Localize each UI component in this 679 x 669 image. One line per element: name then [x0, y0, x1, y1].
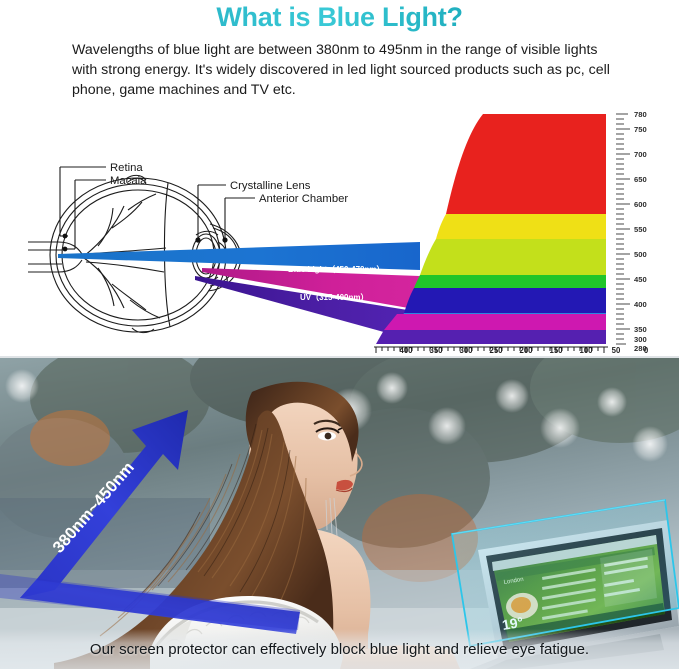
x-label-100: 100: [579, 346, 593, 355]
spectrum-chart: 780 750 700 650 600 550 500 450 400 350 …: [368, 108, 679, 353]
x-label-0: 0: [644, 346, 649, 355]
y-tick-750: 750: [634, 125, 647, 134]
info-section: What is Blue Light? Wavelengths of blue …: [0, 0, 679, 358]
x-label-50: 50: [612, 346, 621, 355]
light-beams: Blue Light（450-470nm） UV（315-400nm） UVC（…: [20, 150, 420, 350]
beam-label-uv: UV（315-400nm）: [300, 292, 368, 302]
band-blue: [404, 288, 606, 313]
y-tick-labels: 780 750 700 650 600 550 500 450 400 350 …: [634, 110, 647, 353]
page-title: What is Blue Light?: [0, 2, 679, 33]
x-label-200: 200: [519, 346, 533, 355]
y-tick-400: 400: [634, 300, 647, 309]
y-tick-650: 650: [634, 175, 647, 184]
y-tick-550: 550: [634, 225, 647, 234]
band-yellow-green: [420, 239, 606, 275]
y-tick-450: 450: [634, 275, 647, 284]
spectrum-chart-svg: 780 750 700 650 600 550 500 450 400 350 …: [368, 108, 679, 353]
x-label-300: 300: [459, 346, 473, 355]
y-tick-350: 350: [634, 325, 647, 334]
band-red: [446, 114, 606, 214]
x-label-350: 350: [429, 346, 443, 355]
y-axis-ruler: [616, 114, 630, 344]
photo-caption: Our screen protector can effectively blo…: [90, 641, 589, 658]
y-tick-500: 500: [634, 250, 647, 259]
product-photo-section: 19° London: [0, 358, 679, 669]
band-yellow: [436, 214, 606, 239]
beam-label-uvc: UVC（280-315nm）: [288, 320, 363, 341]
band-green: [414, 275, 606, 288]
spectrum-bands: [397, 114, 606, 330]
page-root: What is Blue Light? Wavelengths of blue …: [0, 0, 679, 669]
caption-band: Our screen protector can effectively blo…: [0, 629, 679, 669]
y-tick-600: 600: [634, 200, 647, 209]
photo-illustration: 19° London: [0, 358, 679, 669]
x-label-250: 250: [489, 346, 503, 355]
y-tick-780: 780: [634, 110, 647, 119]
band-magenta: [384, 314, 606, 330]
intro-paragraph: Wavelengths of blue light are between 38…: [72, 40, 612, 100]
x-label-400: 400: [399, 346, 413, 355]
x-label-150: 150: [549, 346, 563, 355]
y-tick-700: 700: [634, 150, 647, 159]
